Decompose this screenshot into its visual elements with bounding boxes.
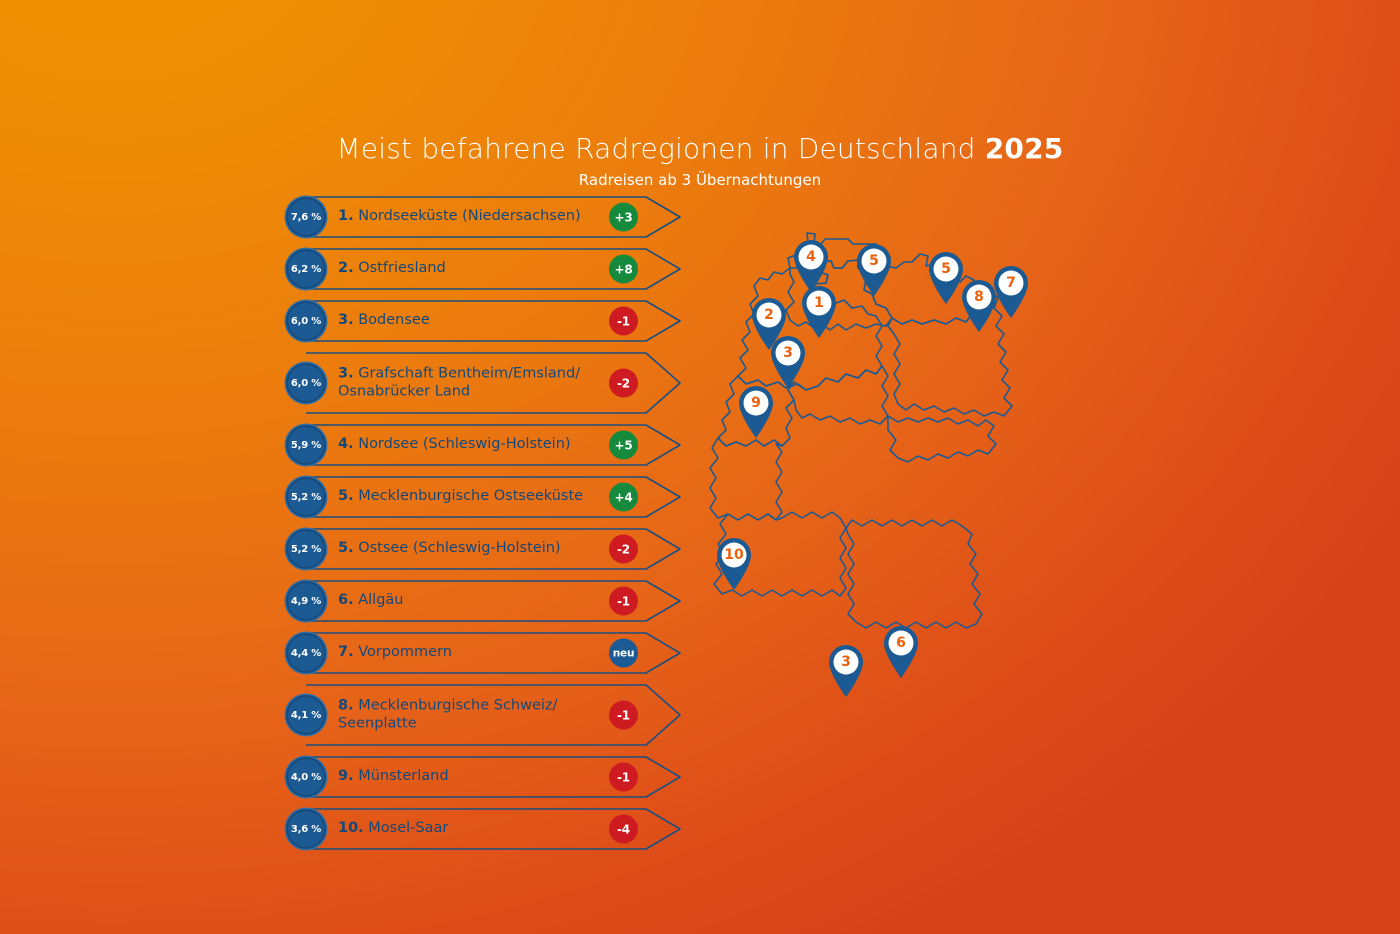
title-main-text: Meist befahrene Radregionen in Deutschla… [337,132,985,165]
ranking-list: 7,6 %1. Nordseeküste (Niedersachsen)+36,… [286,196,682,860]
page-subtitle: Radreisen ab 3 Übernachtungen [0,171,1400,189]
rank-change-badge: -4 [609,815,638,844]
title-year-text: 2025 [985,132,1064,165]
germany-map: 4557812391036 [690,228,1090,758]
region-name: Allgäu [358,592,403,608]
region-label: 5. Ostsee (Schleswig-Holstein) [338,540,638,558]
rank-change-badge: +5 [609,431,638,460]
ranking-row[interactable]: 5,2 %5. Mecklenburgische Ostseeküste+4 [286,476,682,518]
map-pin-icon [853,242,895,297]
rank-change-badge: -1 [609,587,638,616]
region-name: Münsterland [358,768,448,784]
region-name: Nordsee (Schleswig-Holstein) [358,436,570,452]
map-pin[interactable]: 5 [853,242,895,297]
rank-number: 4. [338,436,354,452]
percentage-badge: 6,0 % [286,363,326,403]
percentage-badge: 4,4 % [286,633,326,673]
ranking-row[interactable]: 7,6 %1. Nordseeküste (Niedersachsen)+3 [286,196,682,238]
map-pin-icon [825,643,867,698]
region-label: 7. Vorpommern [338,644,638,662]
rank-change-badge: -1 [609,763,638,792]
percentage-badge: 3,6 % [286,809,326,849]
map-pin[interactable]: 9 [735,384,777,439]
map-pin-icon [880,624,922,679]
region-label: 8. Mecklenburgische Schweiz/ Seenplatte [338,697,638,732]
region-name: Vorpommern [358,644,452,660]
ranking-row[interactable]: 4,1 %8. Mecklenburgische Schweiz/ Seenpl… [286,684,682,746]
map-pin[interactable]: 6 [880,624,922,679]
rank-number: 3. [338,365,354,381]
map-pin[interactable]: 3 [825,643,867,698]
rank-change-badge: +4 [609,483,638,512]
map-pin-icon [713,536,755,591]
map-pin[interactable]: 10 [713,536,755,591]
region-label: 3. Bodensee [338,312,638,330]
region-name: Nordseeküste (Niedersachsen) [358,208,580,224]
region-label: 9. Münsterland [338,768,638,786]
rank-number: 6. [338,592,354,608]
region-name: Bodensee [358,312,430,328]
map-pin[interactable]: 1 [798,284,840,339]
ranking-row[interactable]: 6,0 %3. Bodensee-1 [286,300,682,342]
region-name: Ostfriesland [358,260,446,276]
ranking-row[interactable]: 5,9 %4. Nordsee (Schleswig-Holstein)+5 [286,424,682,466]
percentage-badge: 4,0 % [286,757,326,797]
map-pin[interactable]: 3 [767,334,809,389]
rank-number: 1. [338,208,354,224]
region-label: 1. Nordseeküste (Niedersachsen) [338,208,638,226]
ranking-row[interactable]: 4,9 %6. Allgäu-1 [286,580,682,622]
ranking-row[interactable]: 6,2 %2. Ostfriesland+8 [286,248,682,290]
region-name: Mecklenburgische Ostseeküste [358,488,583,504]
map-pin-icon [958,278,1000,333]
rank-change-badge: -2 [609,369,638,398]
ranking-row[interactable]: 5,2 %5. Ostsee (Schleswig-Holstein)-2 [286,528,682,570]
region-label: 2. Ostfriesland [338,260,638,278]
rank-number: 9. [338,768,354,784]
percentage-badge: 7,6 % [286,197,326,237]
region-name: Grafschaft Bentheim/Emsland/ Osnabrücker… [338,365,580,399]
map-pin-icon [735,384,777,439]
rank-change-badge: -1 [609,307,638,336]
region-name: Ostsee (Schleswig-Holstein) [358,540,560,556]
ranking-row[interactable]: 4,4 %7. Vorpommernneu [286,632,682,674]
region-label: 4. Nordsee (Schleswig-Holstein) [338,436,638,454]
region-name: Mosel-Saar [368,820,448,836]
rank-number: 5. [338,488,354,504]
rank-change-badge: -1 [609,701,638,730]
rank-number: 10. [338,820,364,836]
region-label: 10. Mosel-Saar [338,820,638,838]
rank-number: 8. [338,697,354,713]
rank-number: 3. [338,312,354,328]
region-label: 6. Allgäu [338,592,638,610]
region-label: 5. Mecklenburgische Ostseeküste [338,488,638,506]
percentage-badge: 4,1 % [286,695,326,735]
rank-change-badge: -2 [609,535,638,564]
percentage-badge: 5,9 % [286,425,326,465]
region-name: Mecklenburgische Schweiz/ Seenplatte [338,697,557,731]
percentage-badge: 5,2 % [286,477,326,517]
ranking-row[interactable]: 4,0 %9. Münsterland-1 [286,756,682,798]
rank-number: 5. [338,540,354,556]
infographic-header: Meist befahrene Radregionen in Deutschla… [0,133,1400,189]
map-pin[interactable]: 8 [958,278,1000,333]
rank-change-badge: neu [609,639,638,668]
map-pin-icon [798,284,840,339]
rank-number: 2. [338,260,354,276]
rank-change-badge: +3 [609,203,638,232]
map-pin-icon [767,334,809,389]
rank-number: 7. [338,644,354,660]
rank-change-badge: +8 [609,255,638,284]
ranking-row[interactable]: 3,6 %10. Mosel-Saar-4 [286,808,682,850]
ranking-row[interactable]: 6,0 %3. Grafschaft Bentheim/Emsland/ Osn… [286,352,682,414]
region-label: 3. Grafschaft Bentheim/Emsland/ Osnabrüc… [338,365,638,400]
percentage-badge: 4,9 % [286,581,326,621]
percentage-badge: 6,0 % [286,301,326,341]
percentage-badge: 5,2 % [286,529,326,569]
percentage-badge: 6,2 % [286,249,326,289]
page-title: Meist befahrene Radregionen in Deutschla… [0,133,1400,165]
